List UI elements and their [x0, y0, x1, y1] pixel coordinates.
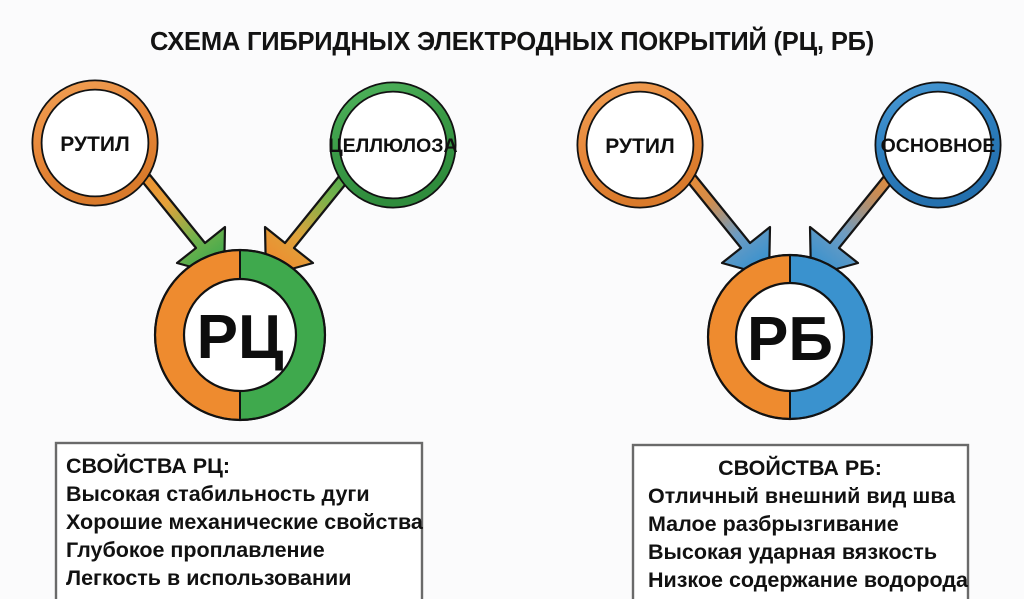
hub-rc-label: РЦ	[197, 303, 284, 372]
properties-box-rb-line-4: Низкое содержание водорода	[648, 568, 969, 592]
properties-box-rb-heading: СВОЙСТВА РБ:	[718, 455, 882, 480]
node-rutile-right-label: РУТИЛ	[605, 135, 674, 158]
node-cellulose[interactable]: ЦЕЛЛЮЛОЗА	[328, 82, 457, 207]
hub-rc[interactable]: РЦ	[155, 250, 325, 420]
hub-rb[interactable]: РБ	[708, 255, 872, 419]
node-rutile-left[interactable]: РУТИЛ	[32, 80, 157, 205]
properties-box-rc-line-1: Высокая стабильность дуги	[66, 482, 370, 506]
properties-box-rb-line-3: Высокая ударная вязкость	[648, 540, 937, 564]
node-cellulose-label: ЦЕЛЛЮЛОЗА	[328, 135, 457, 157]
properties-box-rb-line-1: Отличный внешний вид шва	[648, 484, 956, 508]
hub-rb-label: РБ	[747, 305, 833, 374]
properties-box-rc-line-2: Хорошие механические свойства	[66, 510, 424, 534]
page-title: СХЕМА ГИБРИДНЫХ ЭЛЕКТРОДНЫХ ПОКРЫТИЙ (РЦ…	[150, 26, 874, 56]
properties-box-rc-line-4: Легкость в использовании	[66, 566, 351, 590]
node-rutile-right[interactable]: РУТИЛ	[577, 82, 702, 207]
node-basic-label: ОСНОВНОЕ	[881, 135, 996, 157]
properties-box-rc-line-3: Глубокое проплавление	[66, 538, 325, 562]
node-rutile-left-label: РУТИЛ	[60, 133, 129, 156]
properties-box-rb-line-2: Малое разбрызгивание	[648, 512, 899, 536]
properties-box-rb: СВОЙСТВА РБ: Отличный внешний вид шва Ма…	[633, 445, 969, 599]
hybrid-electrode-coating-diagram: СХЕМА ГИБРИДНЫХ ЭЛЕКТРОДНЫХ ПОКРЫТИЙ (РЦ…	[0, 0, 1024, 599]
diagram-canvas: СХЕМА ГИБРИДНЫХ ЭЛЕКТРОДНЫХ ПОКРЫТИЙ (РЦ…	[0, 0, 1024, 599]
node-basic[interactable]: ОСНОВНОЕ	[875, 82, 1000, 207]
properties-box-rc: СВОЙСТВА РЦ: Высокая стабильность дуги Х…	[56, 443, 424, 599]
properties-box-rc-heading: СВОЙСТВА РЦ:	[66, 453, 230, 478]
